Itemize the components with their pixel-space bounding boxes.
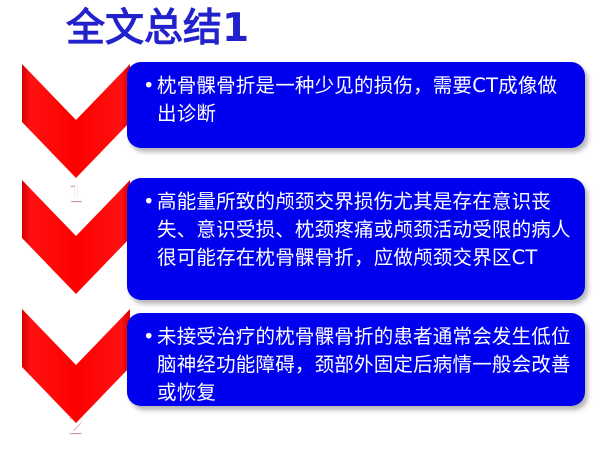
summary-box-3: •未接受治疗的枕骨髁骨折的患者通常会发生低位脑神经功能障碍，颈部外固定后病情一般… [127, 313, 585, 406]
summary-text-2: 高能量所致的颅颈交界损伤尤其是存在意识丧失、意识受损、枕颈疼痛或颅颈活动受限的病… [157, 190, 571, 269]
bullet-icon-2: • [143, 188, 157, 216]
page-title: 全文总结1 [66, 6, 249, 52]
chevron-down-icon [22, 62, 130, 178]
summary-text-3: 未接受治疗的枕骨髁骨折的患者通常会发生低位脑神经功能障碍，颈部外固定后病情一般会… [157, 325, 571, 404]
summary-box-2: •高能量所致的颅颈交界损伤尤其是存在意识丧失、意识受损、枕颈疼痛或颅颈活动受限的… [127, 178, 585, 300]
chevron-arrow-1: 1 [22, 62, 130, 178]
summary-text-block-1: •枕骨髁骨折是一种少见的损伤，需要CT成像做出诊断 [127, 62, 585, 138]
summary-box-1: •枕骨髁骨折是一种少见的损伤，需要CT成像做出诊断 [127, 62, 585, 148]
chevron-down-icon [22, 178, 130, 294]
summary-text-block-2: •高能量所致的颅颈交界损伤尤其是存在意识丧失、意识受损、枕颈疼痛或颅颈活动受限的… [127, 178, 585, 282]
slide-canvas: 全文总结1 1 •枕骨髁骨折是一种少 [0, 0, 600, 450]
chevron-arrow-3: 3 [22, 307, 130, 423]
summary-text-1: 枕骨髁骨折是一种少见的损伤，需要CT成像做出诊断 [157, 74, 557, 125]
summary-text-block-3: •未接受治疗的枕骨髁骨折的患者通常会发生低位脑神经功能障碍，颈部外固定后病情一般… [127, 313, 585, 417]
bullet-icon-3: • [143, 323, 157, 351]
chevron-arrow-2: 2 [22, 178, 130, 294]
chevron-down-icon [22, 307, 130, 423]
bullet-icon-1: • [143, 72, 157, 100]
